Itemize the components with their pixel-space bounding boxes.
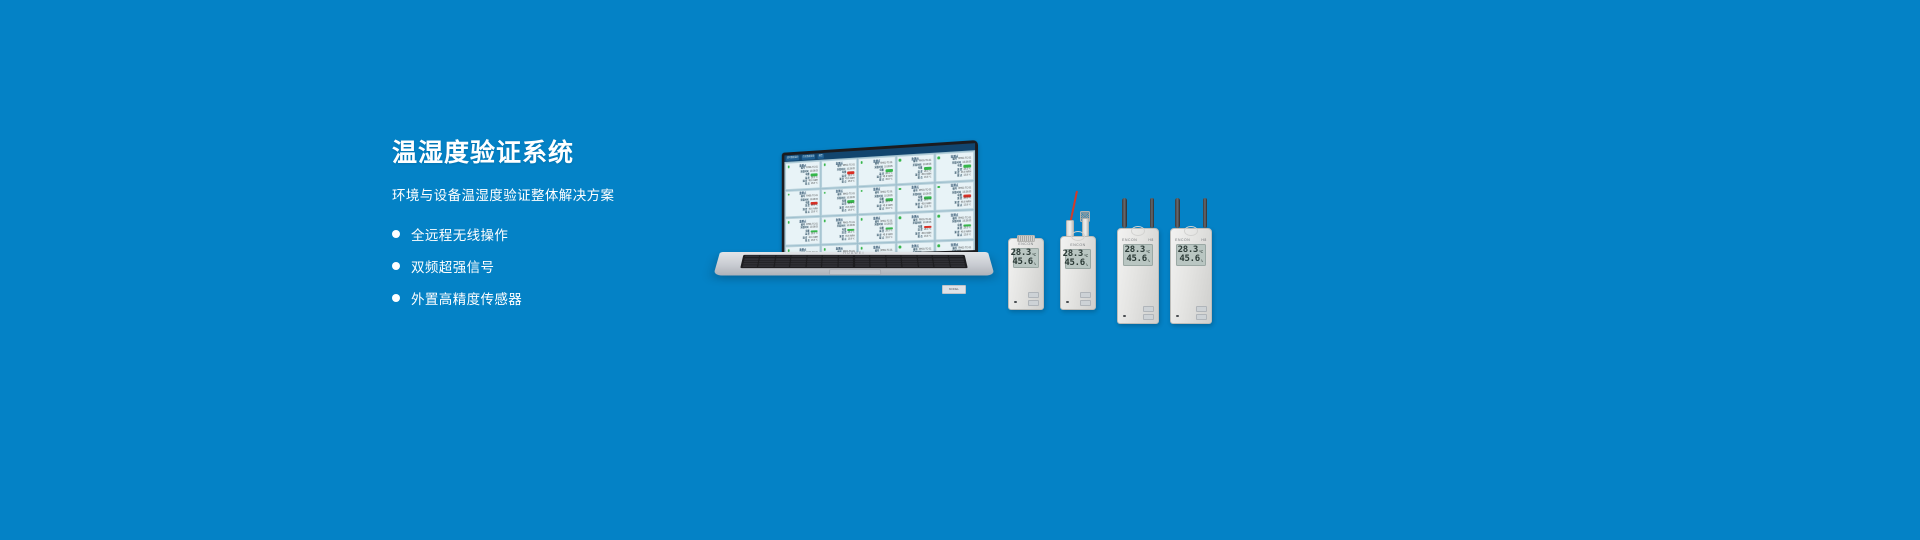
sensor-field-value: 15.8 ℃ [924,177,931,180]
page-title: 温湿度验证系统 [392,140,722,168]
humidity-unit: % [1148,260,1150,264]
humidity-value: 45.6 [1064,259,1084,268]
device-button-down[interactable] [1028,300,1039,306]
list-item: 全远程无线操作 [392,224,722,244]
sensor-card-row: 露 点15.8 ℃ [824,210,855,214]
sensor-card[interactable]: 监测点编号RH01-TC-01采集时间10:28:05电量温 度28.3 ℃湿 … [896,154,934,184]
power-led-icon [1176,315,1179,318]
feature-label: 双频超强信号 [411,256,494,276]
sensor-card-row: 露 点15.8 ℃ [938,234,971,238]
device-recorder-dual-antenna-a: ENCON H8 28.3 ℃ 45.6 % [1117,228,1159,324]
humidity-unit: % [1034,263,1036,267]
laptop-lid: 实时数据监控 历史数据查询 报警 监测点编号RH01-TC-01采集时间10:2… [782,140,978,263]
device-brand: ENCON [1018,242,1033,246]
keyboard-key[interactable] [935,265,950,267]
sensor-field-value: 15.8 ℃ [848,210,855,213]
humidity-unit: % [1201,260,1203,264]
power-led-icon [1014,301,1017,304]
humidity-reading: 45.6 % [1179,255,1203,264]
status-led-icon [938,244,940,247]
sensor-field-label: 露 点 [957,234,962,237]
bullet-dot-icon [392,262,400,270]
sensor-card[interactable]: 监测点编号RH01-TC-01采集时间10:28:05电量温 度28.3 ℃湿 … [821,158,857,188]
sensor-card[interactable]: 监测点编号RH01-TC-01采集时间10:28:05电量温 度28.3 ℃湿 … [935,181,974,211]
device-buttons[interactable] [1196,306,1207,320]
sensor-field-label: 露 点 [805,212,810,215]
sensor-card-row: 露 点15.8 ℃ [861,237,892,241]
keyboard-key[interactable] [903,265,918,267]
humidity-value: 45.6 [1179,255,1199,264]
sensor-field-label: 露 点 [842,239,847,242]
sensor-card-row: 露 点15.8 ℃ [788,211,818,215]
sensor-card-row: 露 点15.8 ℃ [788,240,818,244]
keyboard-key[interactable] [758,265,773,267]
device-brand: ENCON [1175,238,1190,242]
sensor-field-value: 15.8 ℃ [885,237,892,240]
sensor-field-label: 露 点 [805,184,810,187]
device-buttons[interactable] [1080,292,1091,306]
sensor-field-value: 15.8 ℃ [964,234,972,237]
keyboard-key[interactable] [822,265,837,267]
sensor-field-label: 露 点 [879,208,884,211]
sensor-card[interactable]: 监测点编号RH01-TC-01采集时间10:28:05电量温 度28.3 ℃湿 … [935,211,974,241]
tab-realtime[interactable]: 实时数据监控 [786,155,799,161]
device-model: H8 [1148,238,1154,242]
status-led-icon [899,159,901,162]
humidity-reading: 45.6 % [1126,255,1150,264]
keyboard-key[interactable] [919,265,934,267]
lcd-display: 28.3 ℃ 45.6 % [1123,244,1153,266]
keyboard-key[interactable] [806,265,821,267]
sensor-card-row: 露 点15.8 ℃ [788,183,818,187]
feature-list: 全远程无线操作 双频超强信号 外置高精度传感器 [392,224,722,308]
feature-label: 全远程无线操作 [411,224,508,244]
keyboard-key[interactable] [742,265,757,267]
sensor-field-value: 15.8 ℃ [964,175,972,178]
status-led-icon [899,246,901,249]
status-led-icon [938,215,940,218]
sensor-field-value: 15.8 ℃ [811,183,818,186]
laptop-deck [713,252,994,275]
sensor-field-label: 露 点 [957,175,962,178]
list-item: 外置高精度传感器 [392,288,722,308]
bullet-dot-icon [392,230,400,238]
sensor-field-label: 露 点 [918,207,923,210]
list-item: 双频超强信号 [392,256,722,276]
keyboard-key[interactable] [855,265,870,267]
device-model: H8 [1201,238,1207,242]
lcd-display: 28.3 ℃ 45.6 % [1013,248,1039,268]
keyboard-key[interactable] [951,265,966,267]
sensor-card[interactable]: 监测点编号RH01-TC-01采集时间10:28:05电量温 度28.3 ℃湿 … [935,151,974,182]
device-brand-row: ENCON H8 [1175,238,1207,242]
sensor-card-row: 露 点15.8 ℃ [824,238,855,242]
device-button-up[interactable] [1143,306,1154,312]
keyboard-key[interactable] [774,265,789,267]
sensor-card[interactable]: 监测点编号RH01-TC-01采集时间10:28:05电量温 度28.3 ℃湿 … [785,161,820,190]
sensor-field-value: 15.8 ℃ [924,236,931,239]
trackpad[interactable] [829,270,882,275]
humidity-value: 45.6 [1012,258,1032,267]
sensor-card[interactable]: 监测点编号RH01-TC-01采集时间10:28:05电量温 度28.3 ℃湿 … [858,214,895,243]
sensor-card-row: 露 点15.8 ℃ [899,177,931,181]
sensor-field-value: 15.8 ℃ [924,206,931,209]
sensor-field-value: 15.8 ℃ [848,238,855,241]
hero-banner: 温湿度验证系统 环境与设备温湿度验证整体解决方案 全远程无线操作 双频超强信号 … [0,0,1920,540]
humidity-reading: 45.6 % [1012,258,1036,267]
sensor-card[interactable]: 监测点编号RH01-TC-01采集时间10:28:05电量温 度28.3 ℃湿 … [896,183,934,213]
sensor-field-label: 露 点 [842,210,847,213]
device-button-up[interactable] [1028,292,1039,298]
device-recorder-vent: ENCON 28.3 ℃ 45.6 % [1008,238,1044,310]
device-brand-row: ENCON H8 [1122,238,1154,242]
sensor-field-label: 露 点 [918,236,923,239]
sensor-field-label: 露 点 [918,177,923,180]
keyboard-key[interactable] [887,265,902,267]
sensor-card-row: 露 点15.8 ℃ [938,175,971,180]
sensor-field-label: 露 点 [879,237,884,240]
sensor-field-label: 露 点 [879,180,884,183]
sensor-field-value: 15.8 ℃ [848,181,855,184]
device-buttons[interactable] [1143,306,1154,320]
laptop-illustration: 实时数据监控 历史数据查询 报警 监测点编号RH01-TC-01采集时间10:2… [718,140,990,300]
device-button-down[interactable] [1080,300,1091,306]
keyboard-key[interactable] [871,265,886,267]
device-brand: ENCON [1070,243,1085,247]
sensor-card-row: 露 点15.8 ℃ [861,179,892,183]
hero-text-block: 温湿度验证系统 环境与设备温湿度验证整体解决方案 全远程无线操作 双频超强信号 … [392,140,722,320]
sensor-card[interactable]: 监测点编号RH01-TC-01采集时间10:28:05电量温 度28.3 ℃湿 … [821,216,857,245]
device-group: ENCON 28.3 ℃ 45.6 % [1000,180,1230,310]
device-brand: ENCON [1122,238,1137,242]
bullet-dot-icon [392,294,400,302]
sensor-field-value: 15.8 ℃ [885,179,892,182]
antenna-right-icon [1150,198,1155,228]
sensor-card[interactable]: 监测点编号RH01-TC-01采集时间10:28:05电量温 度28.3 ℃湿 … [785,189,820,218]
laptop-brand-label: HUAWEI [843,251,864,255]
status-led-icon [938,156,940,159]
sensor-card-row: 露 点15.8 ℃ [861,208,892,212]
keyboard-key[interactable] [790,265,805,267]
sensor-card[interactable]: 监测点编号RH01-TC-01采集时间10:28:05电量温 度28.3 ℃湿 … [785,217,820,246]
sensor-card[interactable]: 监测点编号RH01-TC-01采集时间10:28:05电量温 度28.3 ℃湿 … [858,156,895,186]
humidity-value: 45.6 [1126,255,1146,264]
power-led-icon [1066,301,1069,304]
status-led-icon [899,217,901,220]
device-button-up[interactable] [1080,292,1091,298]
sensor-field-label: 露 点 [842,182,847,185]
antenna-left-icon [1122,198,1127,228]
antenna-left-icon [1175,198,1180,228]
sensor-field-value: 15.8 ℃ [885,208,892,211]
laptop-sticker: MODEL [942,285,966,294]
vent-icon [1017,235,1035,242]
hero-subtitle: 环境与设备温湿度验证整体解决方案 [392,184,722,204]
sensor-field-label: 露 点 [805,240,810,243]
tab-alarm[interactable]: 报警 [818,154,824,159]
sensor-card-grid: 监测点编号RH01-TC-01采集时间10:28:05电量温 度28.3 ℃湿 … [784,150,975,256]
sensor-card-row: 露 点15.8 ℃ [899,236,931,240]
sensor-card[interactable]: 监测点编号RH01-TC-01采集时间10:28:05电量温 度28.3 ℃湿 … [896,212,934,242]
hanging-ring-icon [1131,226,1145,236]
device-buttons[interactable] [1028,292,1039,306]
device-recorder-external-probe: ENCON 28.3 ℃ 45.6 % [1060,236,1096,310]
sensor-card-row: 露 点15.8 ℃ [899,206,931,210]
sensor-field-value: 15.8 ℃ [811,211,818,214]
sensor-field-value: 15.8 ℃ [964,204,972,207]
device-button-down[interactable] [1143,314,1154,320]
hanging-ring-icon [1071,231,1085,241]
keyboard-row [742,265,966,267]
sensor-card[interactable]: 监测点编号RH01-TC-01采集时间10:28:05电量温 度28.3 ℃湿 … [858,185,895,215]
sensor-field-label: 露 点 [957,205,962,208]
lcd-display: 28.3 ℃ 45.6 % [1065,249,1091,269]
status-led-icon [787,165,789,168]
sensor-card[interactable]: 监测点编号RH01-TC-01采集时间10:28:05电量温 度28.3 ℃湿 … [821,187,857,216]
lcd-display: 28.3 ℃ 45.6 % [1176,244,1206,266]
antenna-right-icon [1203,198,1208,228]
humidity-unit: % [1086,264,1088,268]
device-button-down[interactable] [1196,314,1207,320]
sensor-card-row: 露 点15.8 ℃ [824,181,855,185]
humidity-reading: 45.6 % [1064,259,1088,268]
feature-label: 外置高精度传感器 [411,288,522,308]
sensor-card-row: 露 点15.8 ℃ [938,204,971,208]
tab-history[interactable]: 历史数据查询 [802,154,815,160]
laptop-screen: 实时数据监控 历史数据查询 报警 监测点编号RH01-TC-01采集时间10:2… [784,143,975,256]
power-led-icon [1123,315,1126,318]
device-button-up[interactable] [1196,306,1207,312]
keyboard[interactable] [740,255,967,268]
device-recorder-dual-antenna-b: ENCON H8 28.3 ℃ 45.6 % [1170,228,1212,324]
hanging-ring-icon [1184,226,1198,236]
sensor-field-value: 15.8 ℃ [811,240,818,243]
keyboard-key[interactable] [839,265,854,267]
